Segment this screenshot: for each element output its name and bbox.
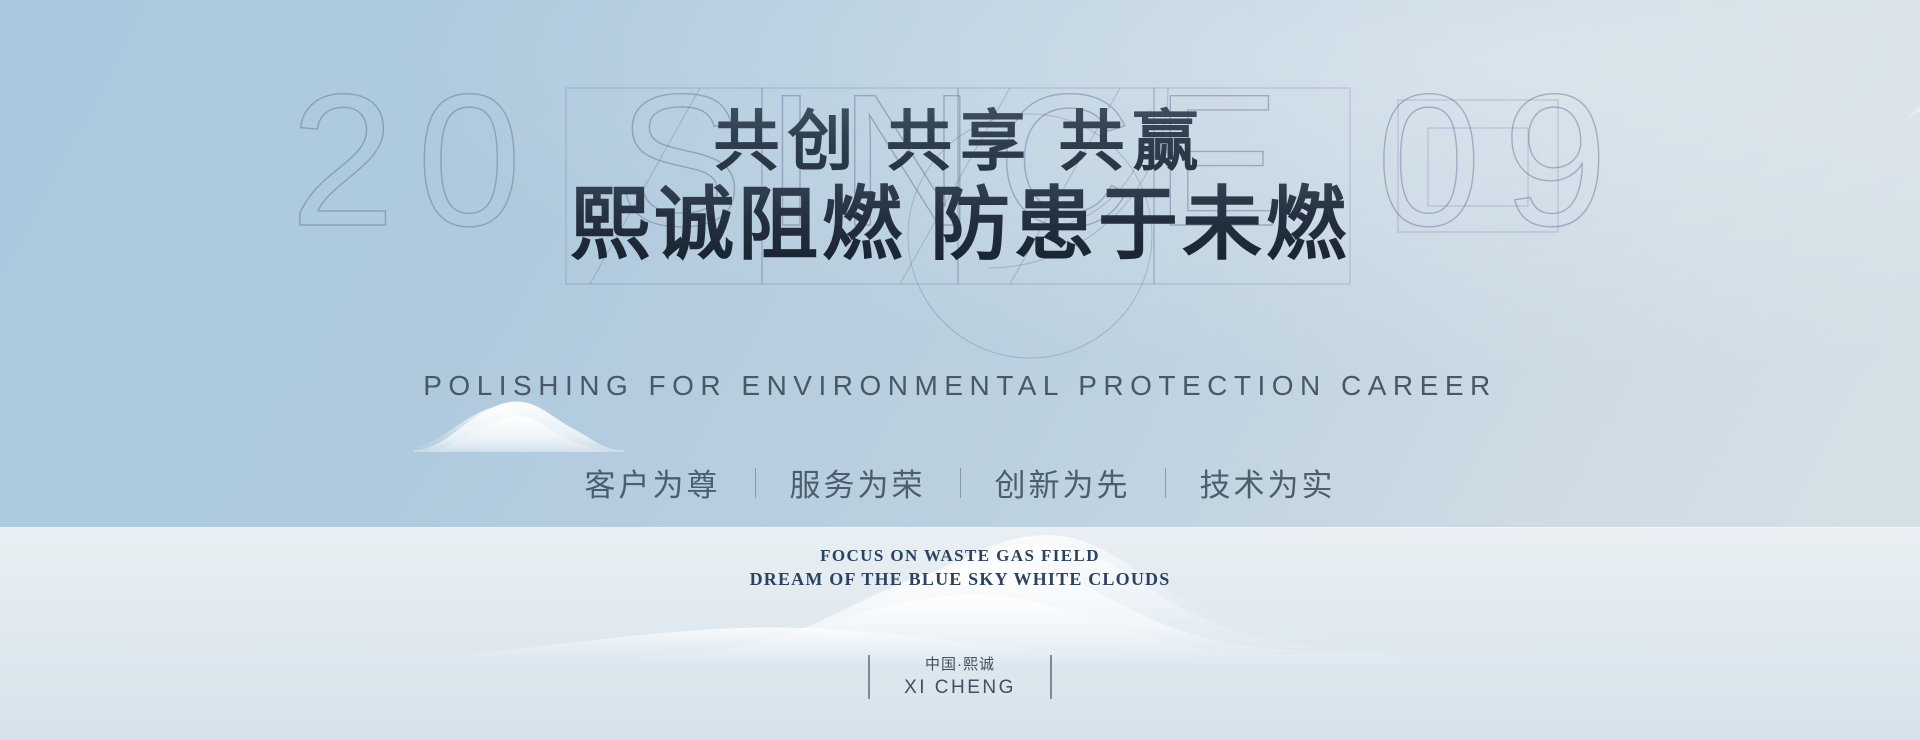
value-item-3: 创新为先 <box>995 460 1131 505</box>
banner-stage: 20 SINCE 09 <box>0 0 1920 740</box>
signature-bar-right <box>1050 655 1052 699</box>
signature-block: 中国·熙诚 XI CHENG <box>0 654 1920 700</box>
value-separator-2 <box>960 468 961 498</box>
value-separator-1 <box>755 468 756 498</box>
value-separator-3 <box>1165 468 1166 498</box>
headline-secondary: 熙诚阻燃 防患于未燃 <box>0 160 1920 276</box>
signature-text: 中国·熙诚 XI CHENG <box>904 654 1016 700</box>
serif-subtitle-line2: DREAM OF THE BLUE SKY WHITE CLOUDS <box>0 567 1920 592</box>
serif-subtitle-block: FOCUS ON WASTE GAS FIELD DREAM OF THE BL… <box>0 544 1920 592</box>
horizon-line <box>0 527 1920 528</box>
cloud-left-back <box>408 407 612 448</box>
headline-secondary-text: 熙诚阻燃 防患于未燃 <box>570 182 1350 270</box>
value-item-1: 客户为尊 <box>585 460 721 505</box>
cloud-left-mid <box>420 417 624 452</box>
value-item-2: 服务为荣 <box>790 460 926 505</box>
cloud-left-front <box>414 402 624 452</box>
value-item-4: 技术为实 <box>1200 460 1336 505</box>
signature-bar-left <box>868 655 870 699</box>
values-row: 客户为尊 服务为荣 创新为先 技术为实 <box>0 460 1920 505</box>
tagline-english: POLISHING FOR ENVIRONMENTAL PROTECTION C… <box>0 370 1920 402</box>
signature-english: XI CHENG <box>904 675 1016 700</box>
signature-chinese: 中国·熙诚 <box>904 654 1016 675</box>
serif-subtitle-line1: FOCUS ON WASTE GAS FIELD <box>0 544 1920 567</box>
